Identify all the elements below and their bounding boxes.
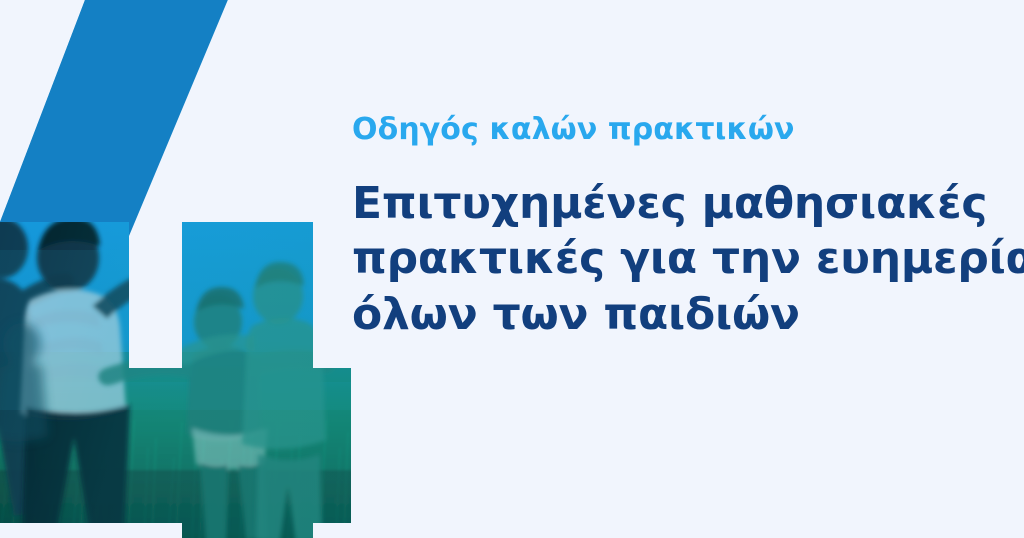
page-title: Επιτυχημένες μαθησιακές πρακτικές για τη… bbox=[352, 176, 972, 342]
bg-below-crossbar-left bbox=[0, 523, 177, 538]
headline-line-1: Επιτυχημένες μαθησιακές bbox=[352, 176, 972, 231]
numeral-four-svg bbox=[0, 0, 380, 538]
numeral-four-graphic bbox=[0, 0, 380, 538]
bg-below-crossbar-right bbox=[313, 523, 380, 538]
bg-right-of-crossbar bbox=[351, 368, 380, 538]
headline-line-2: πρακτικές για την ευημερία bbox=[352, 231, 972, 286]
banner-canvas: Οδηγός καλών πρακτικών Επιτυχημένες μαθη… bbox=[0, 0, 1024, 538]
text-block: Οδηγός καλών πρακτικών Επιτυχημένες μαθη… bbox=[352, 112, 972, 342]
headline-line-3: όλων των παιδιών bbox=[352, 287, 972, 342]
eyebrow-label: Οδηγός καλών πρακτικών bbox=[352, 112, 972, 148]
